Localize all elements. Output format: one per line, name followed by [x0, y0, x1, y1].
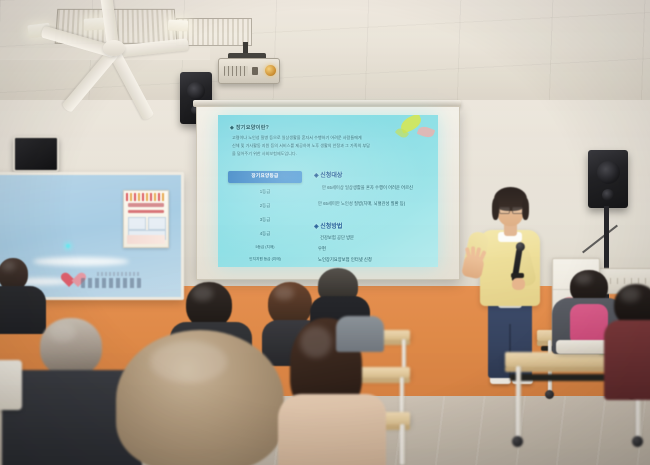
- welfare-center-logo: [57, 272, 143, 296]
- chair-back: [0, 360, 22, 410]
- slide-tier-header: 장기요양등급: [228, 171, 302, 183]
- slide-tier-3: 3등급: [228, 217, 302, 223]
- heart-icon: [61, 273, 78, 289]
- desk-leg: [516, 366, 521, 438]
- lens-right: [512, 207, 523, 214]
- wall-mounted-tv[interactable]: [13, 136, 59, 172]
- desk-caster: [632, 436, 643, 447]
- poster-band: [128, 210, 164, 213]
- desk-caster: [512, 436, 523, 447]
- hair-highlight: [274, 286, 293, 301]
- attendee-center-front: [106, 330, 296, 465]
- speaker-cone: [187, 82, 205, 100]
- slide-intro-line-2: 신체 및 가사활동 지원 등의 서비스를 제공하여 노후 생활의 안정과 그 가…: [232, 143, 428, 149]
- attendee-maroon: [612, 288, 650, 398]
- board-light-dot: [66, 244, 70, 248]
- slide-section-1-line-2: 만 65세미만 노인성 질병(치매, 뇌혈관성 질환 등): [318, 201, 405, 207]
- ceiling-projector: [218, 58, 280, 84]
- slide-tier-6: 인지지원 등급 (치매): [222, 257, 308, 262]
- slide-tier-2: 2등급: [228, 203, 302, 209]
- presenter-hair-side: [522, 198, 529, 220]
- poster-bunting-icon: [126, 193, 166, 201]
- poster-title-bar: [128, 203, 164, 207]
- presenter-hair-side: [492, 198, 499, 220]
- speaker-tweeter: [602, 189, 614, 201]
- speaker-right: [588, 150, 628, 208]
- projection-screen[interactable]: ◈ 장기요양이란? 고령이나 노인성 질병 등으로 일상생활을 혼자서 수행하기…: [196, 106, 460, 280]
- slide-section-2-line-3: 노인장기요양보험 인터넷 신청: [318, 257, 372, 263]
- eyeglasses-icon: [499, 206, 522, 212]
- slide-section-1-heading: ◈ 신청대상: [314, 170, 342, 179]
- slide-section-2-heading: ◈ 신청방법: [314, 221, 342, 230]
- attendee-head: [116, 330, 284, 465]
- slide-intro-line-3: 을 덜어주기 위한 사회보험제도입니다.: [232, 151, 428, 157]
- poster-panel: [128, 217, 146, 230]
- slide-section-1-line-1: 만 65세이상 일상생활을 혼자 수행이 어려운 어르신: [322, 185, 413, 191]
- slide-tier-5: 5등급 (치매): [222, 245, 308, 250]
- hair-highlight: [150, 341, 227, 383]
- hair-highlight: [2, 261, 15, 272]
- slide-section-2-line-2: 우편: [318, 246, 326, 252]
- slide-intro-line-1: 고령이나 노인성 질병 등으로 일상생활을 혼자서 수행하기 어려운 사람들에게: [232, 135, 428, 141]
- hair-highlight: [300, 326, 332, 359]
- projector-vent: [224, 66, 248, 76]
- slide-tier-header-label: 장기요양등급: [228, 173, 302, 179]
- projected-slide: ◈ 장기요양이란? 고령이나 노인성 질병 등으로 일상생활을 혼자서 수행하기…: [218, 115, 438, 267]
- attendee-body: [278, 394, 386, 465]
- speaker-cone: [597, 161, 620, 184]
- ceiling-light-3: [168, 19, 189, 31]
- poster-panel: [148, 217, 166, 230]
- attendee-gray-aisle: [336, 306, 388, 350]
- logo-subtitle-text: [97, 272, 139, 276]
- seminar-room-photo: ◈ 장기요양이란? 고령이나 노인성 질병 등으로 일상생활을 혼자서 수행하기…: [0, 0, 650, 465]
- presenter-mic-hand: [512, 278, 525, 290]
- projector-lens: [265, 65, 276, 76]
- event-poster[interactable]: [123, 190, 169, 248]
- ceiling-fan: [103, 40, 125, 56]
- attendee-beige-right: [290, 336, 410, 465]
- desk-caster: [545, 390, 554, 399]
- ceiling: [0, 0, 650, 104]
- attendee-body: [604, 320, 650, 400]
- slide-title: ◈ 장기요양이란?: [230, 124, 269, 131]
- wristwatch: [511, 273, 524, 278]
- hair-highlight: [620, 287, 639, 301]
- hair-highlight: [575, 273, 592, 285]
- hair-highlight: [192, 286, 212, 302]
- lens-left: [499, 207, 510, 214]
- logo-wordmark: [81, 278, 141, 288]
- attendee-body: [336, 316, 384, 352]
- hair-highlight: [49, 323, 76, 343]
- projector-knob: [252, 67, 258, 75]
- slide-tier-1: 1등급: [228, 189, 302, 195]
- attendee-head: [40, 318, 102, 376]
- slide-tier-4: 4등급: [228, 231, 302, 237]
- poster-footer: [127, 235, 165, 244]
- slide-section-2-line-1: 건강보험 공단 방문: [320, 235, 354, 241]
